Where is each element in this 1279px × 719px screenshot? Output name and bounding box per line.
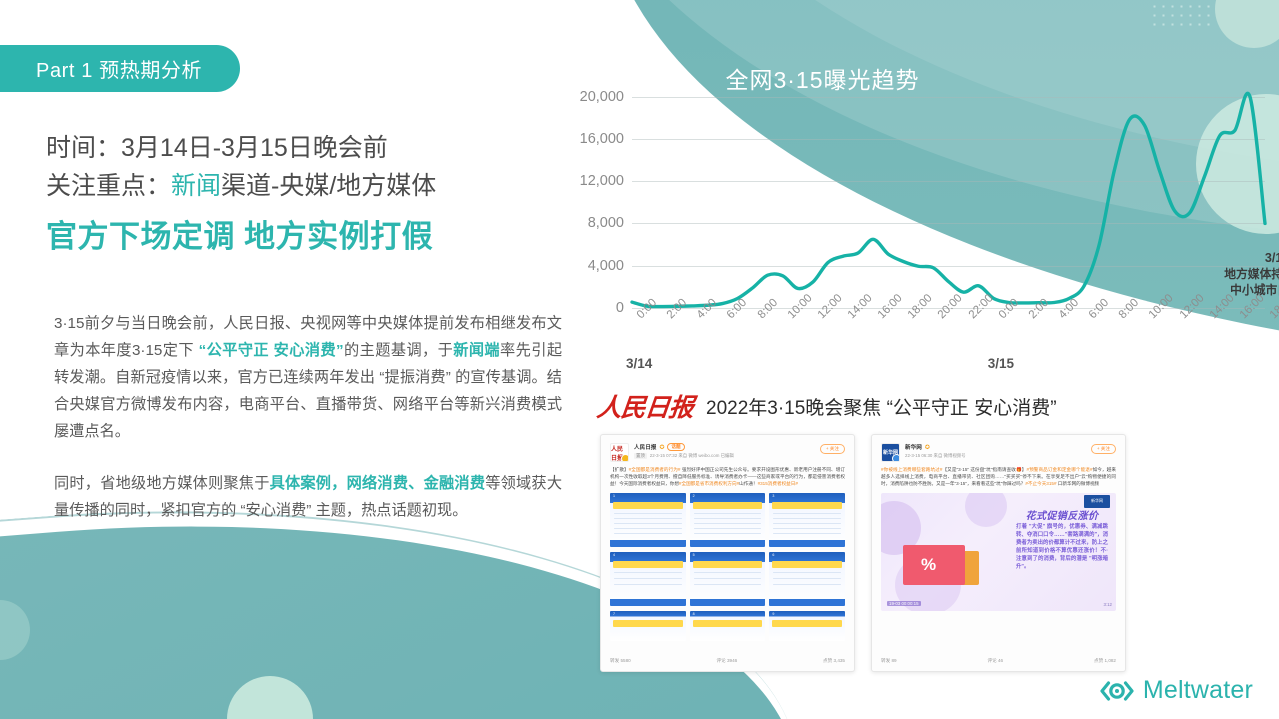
grid-image[interactable]: 7 xyxy=(610,611,686,641)
grid-footer xyxy=(769,599,845,606)
chart-annotation-1: 3/14 17:00 地方媒体持续发布维权案例 中小城市自媒体大量转发 xyxy=(1160,250,1279,299)
grid-image-title xyxy=(772,502,842,509)
hashtag[interactable]: #全国都是省市消费权利方向# xyxy=(679,481,739,486)
text-run: 同时，省地级地方媒体则聚焦于 xyxy=(54,475,270,492)
time-line: 时间：3月14日-3月15日晚会前 xyxy=(46,130,566,168)
meltwater-logo: Meltwater xyxy=(1100,676,1253,705)
y-axis-tick: 12,000 xyxy=(560,173,624,189)
decor-circle-mint-bottom xyxy=(227,676,313,719)
grid-image-index: 9 xyxy=(772,612,774,616)
hashtag[interactable]: #不止今天315# xyxy=(1025,481,1056,486)
follow-button[interactable]: + 关注 xyxy=(1091,444,1116,454)
grid-image-index: 8 xyxy=(693,612,695,616)
grid-line xyxy=(694,572,762,574)
card-actions[interactable]: 转发 5580 评论 3946 点赞 3,435 xyxy=(610,658,845,664)
grid-line xyxy=(694,528,762,530)
text-highlight: “公平守正 安心消费” xyxy=(194,342,344,359)
meta-text: 22-3-15 06:30 来自 微博视频号 xyxy=(905,453,966,459)
video-poster[interactable]: 新华网 花式促销反涨价 打着 "大促" 旗号的，优惠券、满减跳转、夺消口口令……… xyxy=(881,493,1116,611)
part-badge-label: Part 1 预热期分析 xyxy=(36,54,202,83)
paragraph-1: 3·15前夕与当日晚会前，人民日报、央视网等中央媒体提前发布相继发布文章为本年度… xyxy=(54,310,562,445)
grid-image[interactable]: 8 xyxy=(690,611,766,641)
headline: 官方下场定调 地方实例打假 xyxy=(46,211,566,256)
grid-image[interactable]: 2 xyxy=(690,493,766,547)
grid-image-index: 7 xyxy=(613,612,615,616)
grid-image-title xyxy=(613,561,683,568)
grid-line xyxy=(773,533,841,535)
chart-x-axis: 0:002:004:006:008:0010:0012:0014:0016:00… xyxy=(632,312,1265,358)
grid-line xyxy=(773,518,841,520)
card-identity: 新华网 ✪ 22-3-15 06:30 来自 微博视频号 xyxy=(905,443,966,459)
meltwater-wordmark: Meltwater xyxy=(1143,676,1253,705)
hashtag[interactable]: #全国都是消费者的行为# xyxy=(629,467,681,472)
avatar[interactable]: 新华网 xyxy=(881,443,900,462)
chart-y-axis: 04,0008,00012,00016,00020,000 xyxy=(560,86,624,308)
annotation-text: 中小城市自媒体大量转发 xyxy=(1160,283,1279,299)
grid-line xyxy=(614,518,682,520)
hashtag[interactable]: #你被线上消费哪些套路坑过# xyxy=(881,467,942,472)
grid-image[interactable]: 3 xyxy=(769,493,845,547)
grid-image-index: 2 xyxy=(693,494,695,498)
time-value: 3月14日-3月15日晚会前 xyxy=(121,134,388,162)
card-image-grid[interactable]: 1 2 xyxy=(610,493,845,547)
grid-line xyxy=(694,518,762,520)
grid-image[interactable]: 6 xyxy=(769,552,845,606)
slide-root: Part 1 预热期分析 时间：3月14日-3月15日晚会前 关注重点：新闻渠道… xyxy=(0,0,1279,719)
text-run: 扩散 xyxy=(615,467,624,472)
account-name: 新华网 xyxy=(905,443,922,451)
grid-footer xyxy=(610,540,686,547)
grid-line xyxy=(773,572,841,574)
grid-image-title xyxy=(613,502,683,509)
grid-line xyxy=(614,528,682,530)
weibo-card-xinhua[interactable]: + 关注 新华网 新华网 ✪ 22-3-15 06:30 来自 微博视频号 #你… xyxy=(871,434,1126,672)
poster-blob xyxy=(965,493,1007,527)
weibo-cards: + 关注 人民日报 人民日报 ✪ 话题 置顶 22-3-15 07:32 来自 … xyxy=(600,434,1126,672)
y-axis-tick: 16,000 xyxy=(560,131,624,147)
text-run: 的主题基调，于 xyxy=(344,342,454,359)
grid-line xyxy=(773,523,841,525)
focus-rest: 渠道-央媒/地方媒体 xyxy=(221,172,436,200)
grid-footer xyxy=(690,599,766,606)
focus-label: 关注重点： xyxy=(46,172,171,200)
meltwater-eye-icon xyxy=(1100,680,1134,702)
grid-image-index: 1 xyxy=(613,494,615,498)
grid-line xyxy=(614,584,682,586)
grid-line xyxy=(614,578,682,580)
hashtag[interactable]: #预警商品订金和定金哪个能退# xyxy=(1026,467,1092,472)
poster-text: 打着 "大促" 旗号的，优惠券、满减跳转、夺消口口令……"套路满满的"，消费者为… xyxy=(1016,523,1108,571)
paragraph-2: 同时，省地级地方媒体则聚焦于具体案例，网络消费、金融消费等领域获大量传播的同时，… xyxy=(54,470,562,524)
y-axis-tick: 4,000 xyxy=(560,258,624,274)
focus-line: 关注重点：新闻渠道-央媒/地方媒体 xyxy=(46,168,566,206)
text-run: 山作通！ xyxy=(739,481,757,486)
poster-timestamp: 19-03 00:00:15 xyxy=(887,601,921,606)
grid-line xyxy=(614,513,682,515)
y-axis-tick: 20,000 xyxy=(560,89,624,105)
grid-line xyxy=(694,533,762,535)
grid-image-title xyxy=(693,620,763,627)
card-body: #你被线上消费哪些套路坑过#【又是"3·15" 这份盘"坑"指南请查收🎁】#预警… xyxy=(881,466,1116,488)
x-axis-day-label: 3/15 xyxy=(988,356,1014,371)
grid-line xyxy=(694,513,762,515)
annotation-text: 地方媒体持续发布维权案例 xyxy=(1160,267,1279,283)
grid-image[interactable]: 1 xyxy=(610,493,686,547)
account-name-row: 人民日报 ✪ 话题 xyxy=(634,443,734,451)
caption-text: 2022年3·15晚会聚焦 “公平守正 安心消费” xyxy=(706,393,1057,420)
verified-badge-icon xyxy=(892,454,900,462)
text-run: 口新华网的微博视频 xyxy=(1057,481,1100,486)
meta-text: 22-3-15 07:32 来自 微博 weibo.com 已编辑 xyxy=(650,453,734,459)
grid-line xyxy=(614,523,682,525)
y-axis-tick: 8,000 xyxy=(560,215,624,231)
card-meta: 22-3-15 06:30 来自 微博视频号 xyxy=(905,453,966,459)
grid-line xyxy=(773,578,841,580)
verified-badge-icon xyxy=(621,454,629,462)
poster-title: 花式促销反涨价 xyxy=(1016,507,1108,522)
comment-action[interactable]: 评论 3946 xyxy=(717,658,738,664)
poster-duration: 3:12 xyxy=(1103,602,1112,607)
like-action[interactable]: 点赞 3,435 xyxy=(823,658,845,664)
grid-line xyxy=(614,572,682,574)
repost-action[interactable]: 转发 89 xyxy=(881,658,897,664)
avatar[interactable]: 人民日报 xyxy=(610,443,629,462)
card-image-grid-row2[interactable]: 4 5 6 xyxy=(610,552,845,606)
grid-image-title xyxy=(772,620,842,627)
grid-line xyxy=(694,523,762,525)
grid-footer xyxy=(690,540,766,547)
focus-highlight: 新闻 xyxy=(171,172,221,200)
dot-pattern xyxy=(1150,2,1210,26)
text-run: 【又是"3·15" 这份盘"坑"指南请查收 xyxy=(942,467,1016,472)
exposure-trend-chart: 全网3·15曝光趋势 04,0008,00012,00016,00020,000… xyxy=(560,60,1275,370)
grid-image-title xyxy=(613,620,683,627)
poster-percent-icon: % xyxy=(921,555,936,575)
grid-footer xyxy=(769,540,845,547)
decor-circle-left xyxy=(0,600,30,660)
card-meta: 置顶 22-3-15 07:32 来自 微博 weibo.com 已编辑 xyxy=(634,453,734,459)
grid-line xyxy=(773,528,841,530)
y-axis-tick: 0 xyxy=(560,300,624,316)
card-header: 新华网 新华网 ✪ 22-3-15 06:30 来自 微博视频号 xyxy=(881,443,1116,462)
caption-row: 人民日报 2022年3·15晚会聚焦 “公平守正 安心消费” xyxy=(597,388,1057,424)
comment-action[interactable]: 评论 46 xyxy=(988,658,1004,664)
topic-tag[interactable]: 话题 xyxy=(667,443,684,451)
grid-image[interactable]: 4 xyxy=(610,552,686,606)
x-axis-day-label: 3/14 xyxy=(626,356,652,371)
grid-image[interactable]: 5 xyxy=(690,552,766,606)
grid-footer xyxy=(610,599,686,606)
card-image-grid-row3[interactable]: 7 8 9 xyxy=(610,611,845,641)
card-body: 【扩散】#全国都是消费者的行为# 强烈好评中国正公司先生公众号。要求开设图形优惠… xyxy=(610,466,845,488)
weibo-card-peoples-daily[interactable]: + 关注 人民日报 人民日报 ✪ 话题 置顶 22-3-15 07:32 来自 … xyxy=(600,434,855,672)
grid-image-index: 6 xyxy=(772,553,774,557)
decor-circle-small-top xyxy=(1215,0,1279,48)
grid-line xyxy=(773,513,841,515)
grid-image[interactable]: 9 xyxy=(769,611,845,641)
follow-button[interactable]: + 关注 xyxy=(820,444,845,454)
time-label: 时间： xyxy=(46,134,121,162)
grid-image-title xyxy=(772,561,842,568)
card-identity: 人民日报 ✪ 话题 置顶 22-3-15 07:32 来自 微博 weibo.c… xyxy=(634,443,734,459)
account-name: 人民日报 xyxy=(634,443,656,451)
grid-line xyxy=(694,578,762,580)
grid-line xyxy=(614,533,682,535)
lead-block: 时间：3月14日-3月15日晚会前 关注重点：新闻渠道-央媒/地方媒体 官方下场… xyxy=(46,130,566,256)
text-highlight: 新闻端 xyxy=(453,342,500,359)
card-actions[interactable]: 转发 89 评论 46 点赞 1,082 xyxy=(881,658,1116,664)
grid-image-index: 4 xyxy=(613,553,615,557)
grid-image-index: 5 xyxy=(693,553,695,557)
grid-image-title xyxy=(693,561,763,568)
meta-chip: 置顶 xyxy=(634,453,647,459)
repost-action[interactable]: 转发 5580 xyxy=(610,658,631,664)
hashtag[interactable]: #315消费者权益日# xyxy=(758,481,798,486)
grid-line xyxy=(773,584,841,586)
text-highlight: 具体案例，网络消费、金融消费 xyxy=(270,475,486,492)
verified-icon: ✪ xyxy=(659,444,664,451)
account-name-row: 新华网 ✪ xyxy=(905,443,966,451)
annotation-date: 3/14 17:00 xyxy=(1160,250,1279,267)
card-header: 人民日报 人民日报 ✪ 话题 置顶 22-3-15 07:32 来自 微博 we… xyxy=(610,443,845,462)
peoples-daily-logo: 人民日报 xyxy=(595,388,695,424)
grid-line xyxy=(694,584,762,586)
verified-icon: ✪ xyxy=(925,444,930,451)
grid-image-index: 3 xyxy=(772,494,774,498)
grid-image-title xyxy=(693,502,763,509)
part-badge: Part 1 预热期分析 xyxy=(0,45,240,92)
like-action[interactable]: 点赞 1,082 xyxy=(1094,658,1116,664)
